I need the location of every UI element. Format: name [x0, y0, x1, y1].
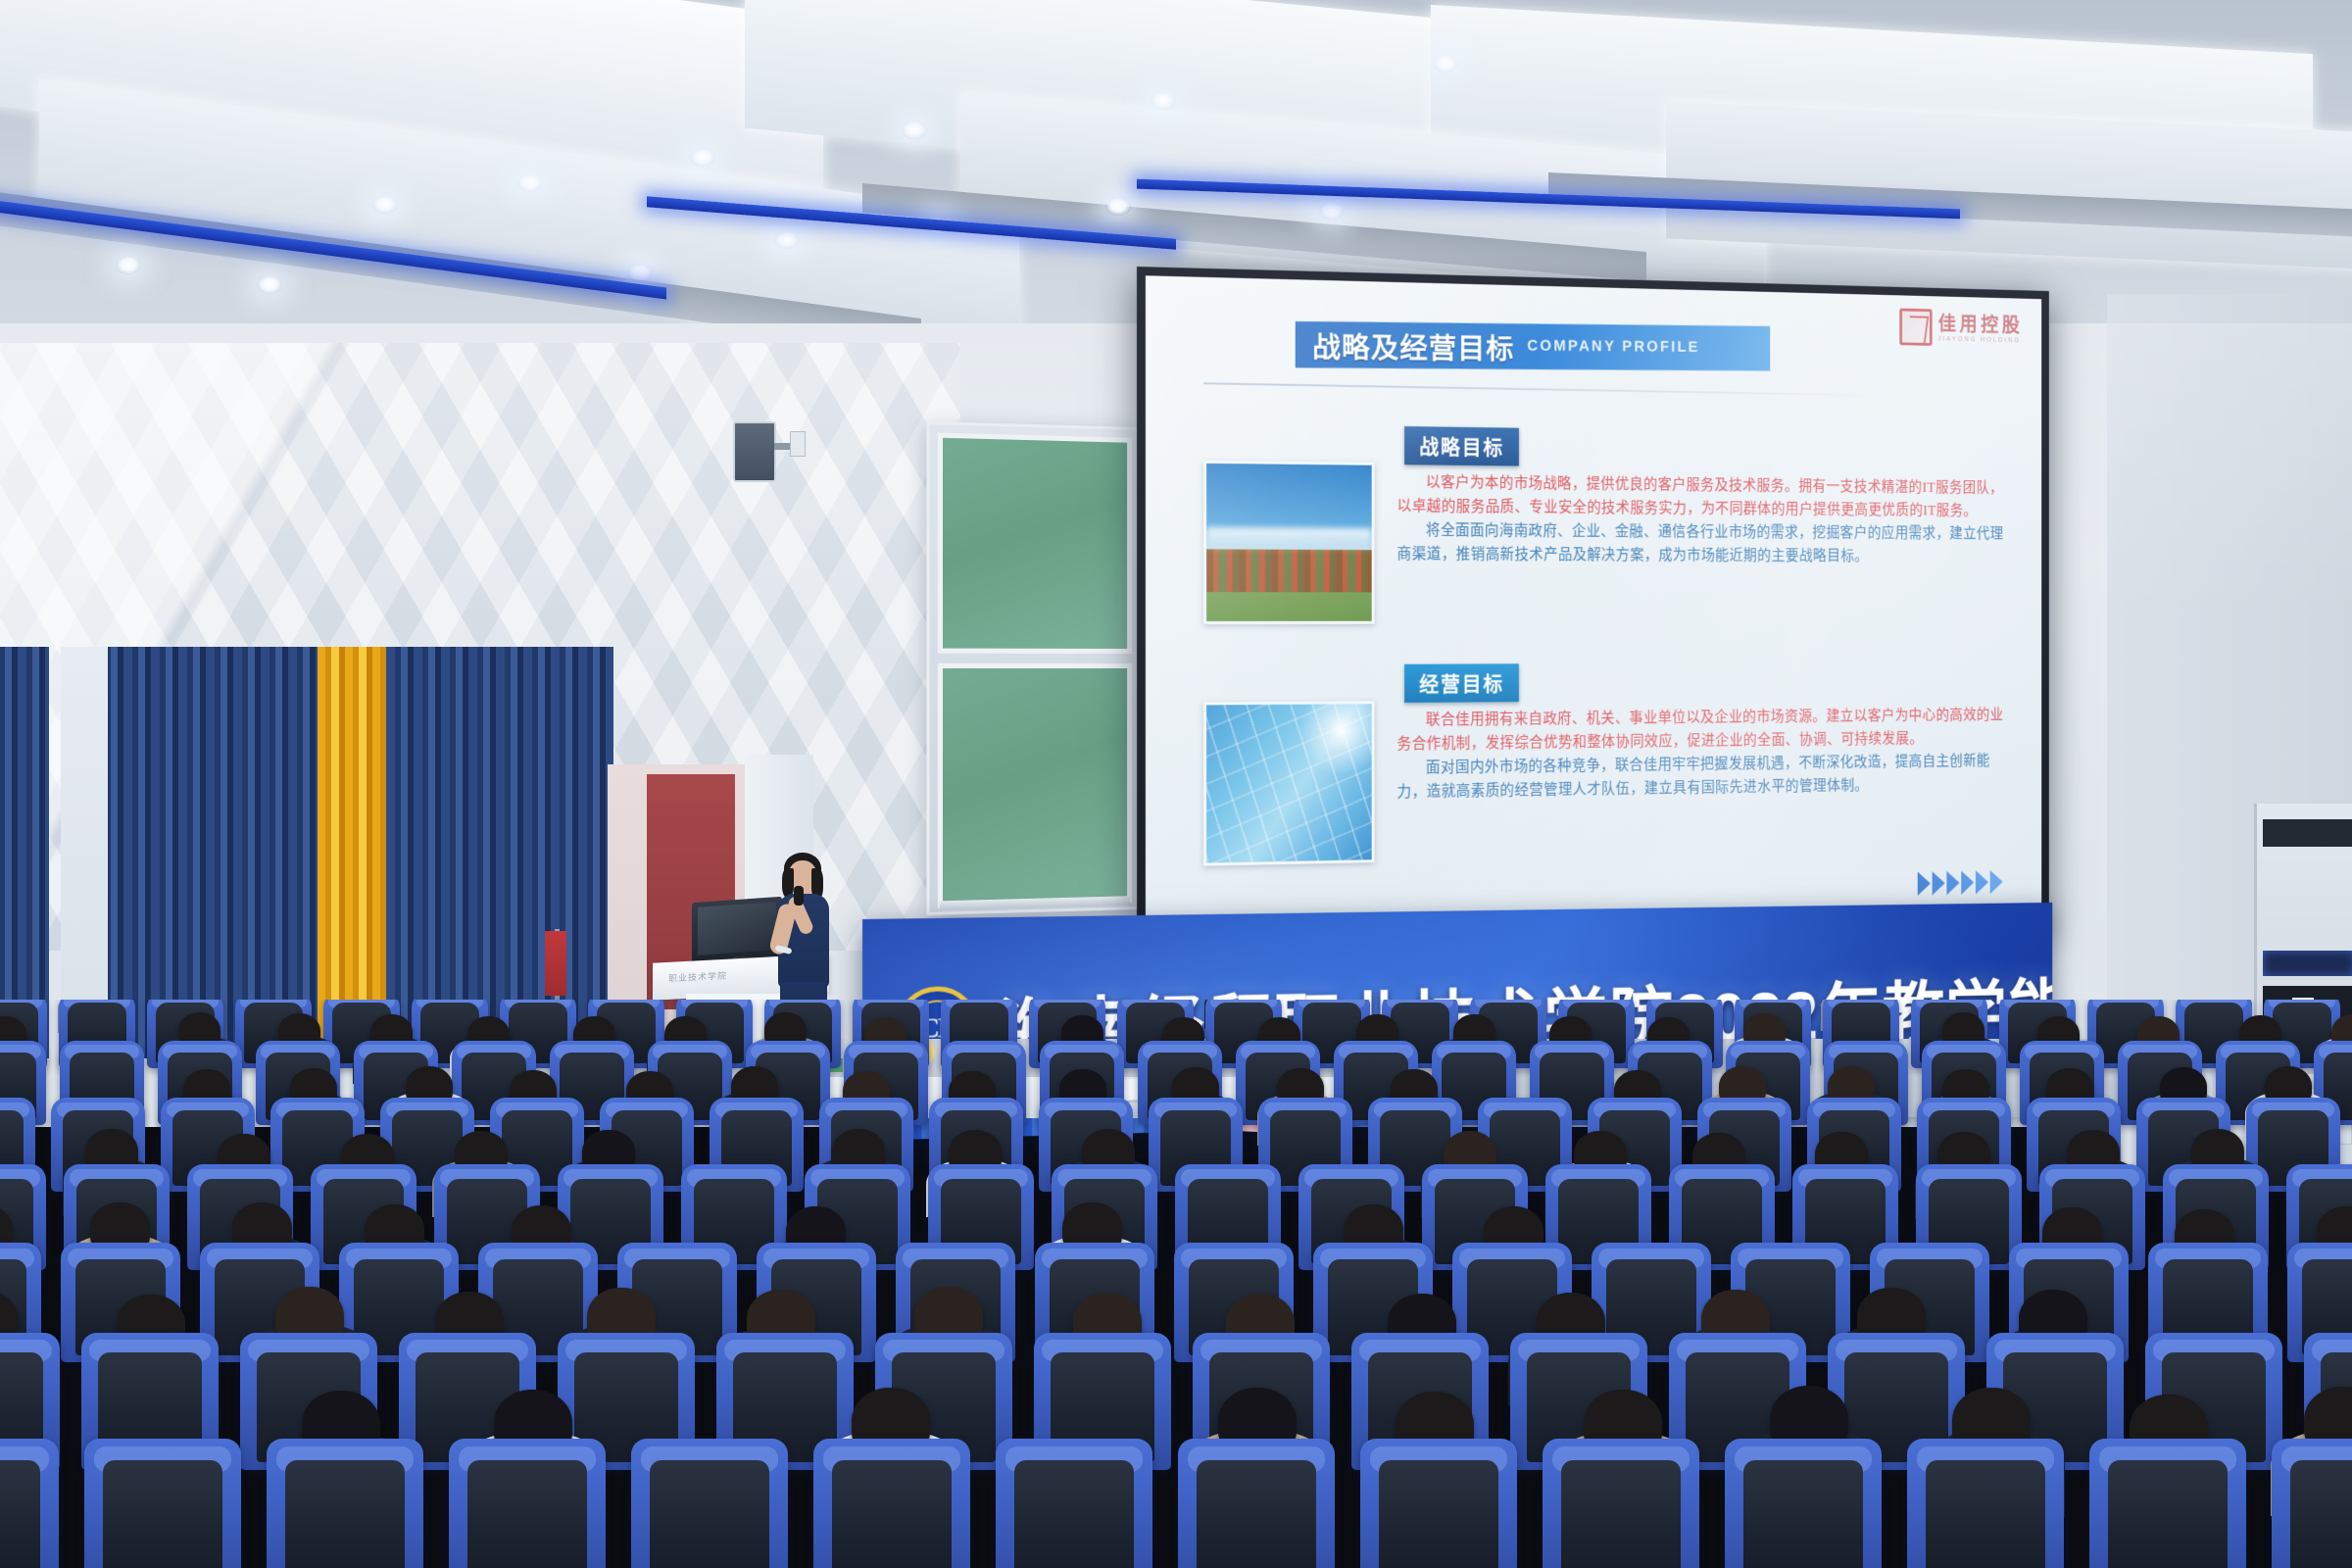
- auditorium-seat[interactable]: [84, 1439, 241, 1568]
- company-logo-mark-icon: [1899, 309, 1932, 346]
- curtain-panel: [0, 647, 49, 1058]
- auditorium-seat[interactable]: [1907, 1439, 2064, 1568]
- slide-canvas: 佳用控股 JIAYONG HOLDING 战略及经营目标 COMPANY PRO…: [1146, 275, 2041, 944]
- auditorium-seat[interactable]: [1725, 1439, 1882, 1568]
- section-heading-business: 经营目标: [1404, 663, 1519, 703]
- ceiling-downlight: [1105, 198, 1131, 216]
- wall-gap: [61, 647, 108, 1058]
- autumn-forest-photo: [1203, 461, 1374, 624]
- rack-unit-blank: [2263, 819, 2352, 847]
- auditorium-seat[interactable]: [1360, 1439, 1517, 1568]
- company-logo: 佳用控股 JIAYONG HOLDING: [1899, 309, 2023, 348]
- section-paragraph: 将全面面向海南政府、企业、金融、通信各行业市场的需求，挖掘客户的应用需求，建立代…: [1396, 518, 2011, 568]
- auditorium-seat[interactable]: [1543, 1439, 1699, 1568]
- chevron-right-icon: [1933, 871, 1945, 896]
- auditorium-seat[interactable]: [2272, 1439, 2352, 1568]
- chevron-right-icon: [1976, 870, 1988, 895]
- auditorium-seat[interactable]: [449, 1439, 606, 1568]
- auditorium-seat[interactable]: [1178, 1439, 1335, 1568]
- ceiling-downlight: [372, 196, 398, 214]
- slide-title-bar: 战略及经营目标 COMPANY PROFILE: [1296, 321, 1770, 371]
- ceiling-downlight: [627, 265, 653, 282]
- section-body-business: 联合佳用拥有来自政府、机关、事业单位以及企业的市场资源。建立以客户为中心的高效的…: [1396, 704, 2011, 805]
- glass-skyscraper-photo: [1203, 701, 1374, 865]
- chevron-arrows-decoration: [1918, 870, 2003, 896]
- section-paragraph: 面对国内外市场的各种竞争，联合佳用牢牢把握发展机遇，不断深化改造，提高自主创新能…: [1396, 750, 2011, 806]
- auditorium-seat[interactable]: [996, 1439, 1152, 1568]
- red-flag: [545, 931, 566, 996]
- company-name-cn: 佳用控股: [1938, 314, 2024, 335]
- chevron-right-icon: [1961, 870, 1974, 895]
- curtain-panel: [96, 647, 326, 1058]
- slide-section-strategic-goals: 战略目标 以客户为本的市场战略，提供优良的客户服务及技术服务。拥有一支技术精湛的…: [1203, 423, 2011, 589]
- wall-speaker-icon: [733, 421, 776, 482]
- microphone-icon: [794, 886, 804, 906]
- rack-unit-display: [2263, 951, 2352, 976]
- auditorium-scene: 佳用控股 JIAYONG HOLDING 战略及经营目标 COMPANY PRO…: [0, 0, 2352, 1568]
- auditorium-seat[interactable]: [631, 1439, 788, 1568]
- section-paragraph: 联合佳用拥有来自政府、机关、事业单位以及企业的市场资源。建立以客户为中心的高效的…: [1396, 704, 2011, 757]
- curtain-accent-panel: [318, 647, 390, 1058]
- ceiling-downlight: [774, 231, 800, 249]
- chalkboard-panel-lower: [938, 663, 1132, 908]
- green-chalkboard: [926, 421, 1139, 915]
- ceiling-downlight: [690, 149, 715, 167]
- chalkboard-panel-upper: [938, 433, 1132, 654]
- section-paragraph: 以客户为本的市场战略，提供优良的客户服务及技术服务。拥有一支技术精湛的IT服务团…: [1396, 470, 2011, 523]
- led-presentation-screen: 佳用控股 JIAYONG HOLDING 战略及经营目标 COMPANY PRO…: [1137, 267, 2049, 953]
- ceiling-downlight: [1433, 55, 1458, 73]
- ceiling-downlight: [1319, 202, 1345, 220]
- audience-seating: [0, 1000, 2352, 1568]
- ceiling-downlight: [517, 174, 543, 192]
- chevron-right-icon: [1946, 871, 1959, 896]
- company-name-en: JIAYONG HOLDING: [1938, 335, 2024, 343]
- section-heading-strategic: 战略目标: [1404, 426, 1519, 466]
- auditorium-seat[interactable]: [267, 1439, 423, 1568]
- ceiling-downlight: [257, 276, 282, 294]
- slide-title-en: COMPANY PROFILE: [1527, 338, 1699, 357]
- auditorium-seat[interactable]: [813, 1439, 970, 1568]
- ceiling-downlight: [902, 122, 927, 139]
- ceiling-downlight: [1151, 92, 1176, 110]
- chevron-right-icon: [1918, 871, 1931, 896]
- slide-title-cn: 战略及经营目标: [1312, 323, 1514, 367]
- slide-section-business-goals: 经营目标 联合佳用拥有来自政府、机关、事业单位以及企业的市场资源。建立以客户为中…: [1203, 661, 2011, 829]
- auditorium-seat[interactable]: [0, 1439, 59, 1568]
- speaker-wall-plate: [790, 431, 806, 457]
- auditorium-seat[interactable]: [2089, 1439, 2246, 1568]
- title-divider: [1203, 382, 1895, 397]
- ceiling-downlight: [116, 257, 141, 274]
- section-body-strategic: 以客户为本的市场战略，提供优良的客户服务及技术服务。拥有一支技术精湛的IT服务团…: [1396, 470, 2011, 569]
- company-logo-text: 佳用控股 JIAYONG HOLDING: [1938, 314, 2024, 344]
- chevron-right-icon: [1990, 870, 2003, 895]
- curtain-panel: [386, 647, 613, 1058]
